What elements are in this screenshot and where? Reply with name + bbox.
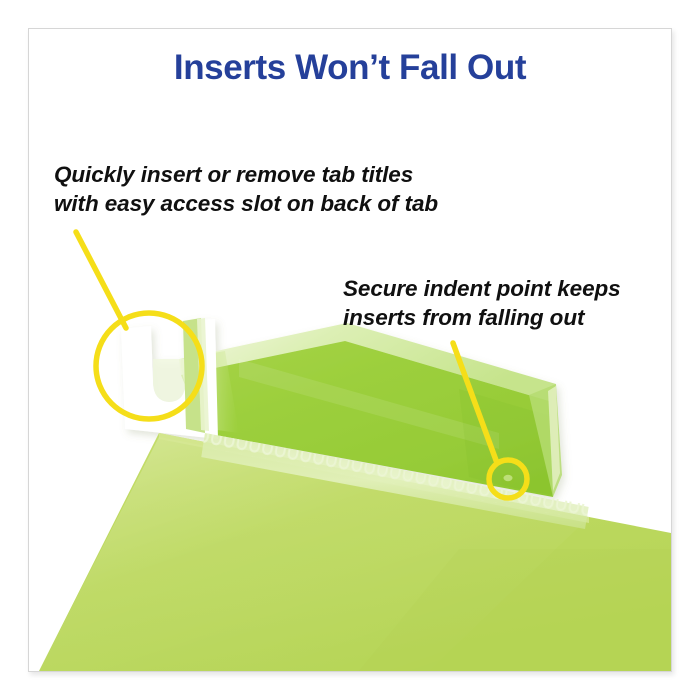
tab-slot-inner-wall (153, 359, 186, 402)
image-canvas: Inserts Won’t Fall Out Quickly insert or… (0, 0, 700, 700)
secure-indent-point (501, 474, 515, 485)
product-photograph (29, 29, 671, 671)
annotation-right-text: Secure indent point keeps inserts from f… (343, 274, 621, 333)
annotation-left-text: Quickly insert or remove tab titles with… (54, 160, 438, 219)
page-title: Inserts Won’t Fall Out (0, 48, 700, 87)
photo-frame (28, 28, 672, 672)
